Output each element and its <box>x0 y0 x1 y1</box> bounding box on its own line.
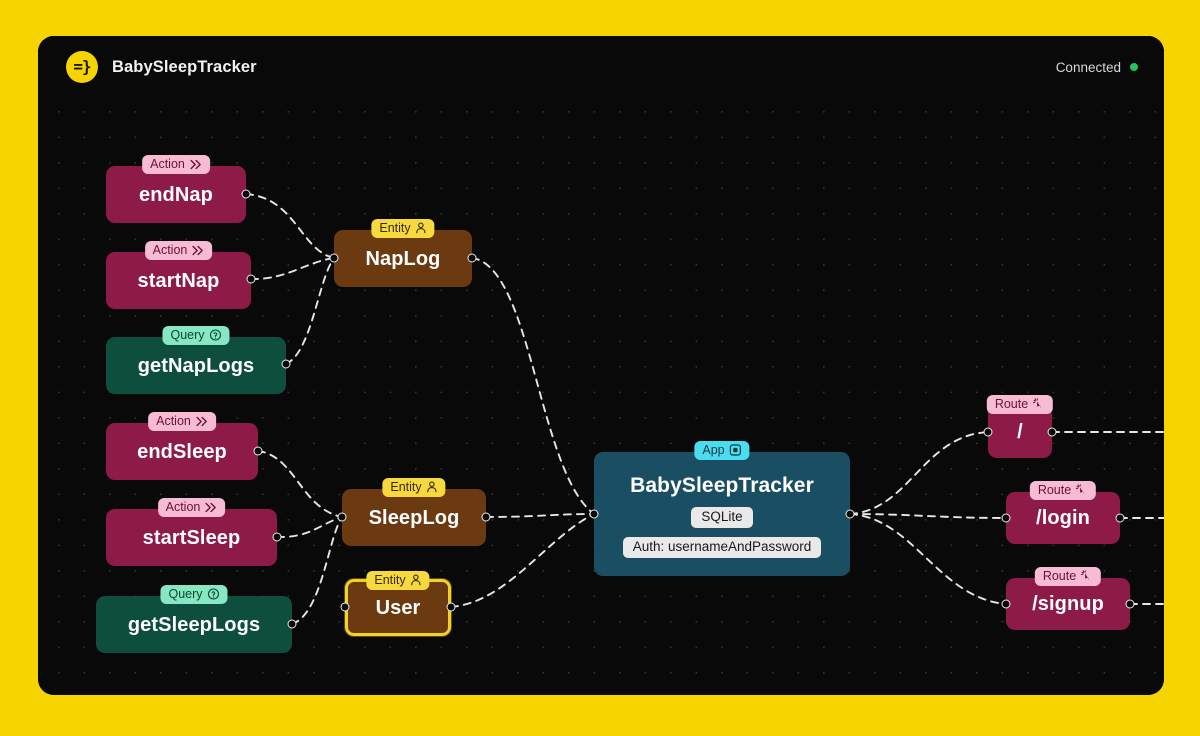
badge-label: Entity <box>390 480 421 494</box>
badge-label: Route <box>1043 569 1076 583</box>
badge-route: Route <box>987 395 1053 414</box>
node-label: /login <box>1022 507 1104 529</box>
badge-label: Route <box>1038 483 1071 497</box>
node-label: endSleep <box>123 441 241 463</box>
port-getnaplogs-out[interactable] <box>282 360 291 369</box>
app-frame: Action endNap Action startNap <box>0 0 1200 736</box>
badge-label: Action <box>153 243 188 257</box>
node-app-babysleeptracker[interactable]: App BabySleepTracker SQLite Auth: userna… <box>594 452 850 576</box>
editor-panel: Action endNap Action startNap <box>38 36 1164 695</box>
node-route-signup[interactable]: Route /signup <box>1006 578 1130 630</box>
node-naplog[interactable]: Entity NapLog <box>334 230 472 287</box>
edge-naplog-app <box>472 258 594 514</box>
port-getsleeplogs-out[interactable] <box>288 620 297 629</box>
node-getnaplogs[interactable]: Query getNapLogs <box>106 337 286 394</box>
graph-canvas[interactable]: Action endNap Action startNap <box>38 36 1164 695</box>
port-naplog-in[interactable] <box>330 254 339 263</box>
badge-entity: Entity <box>382 478 445 497</box>
badge-action: Action <box>148 412 216 431</box>
node-label: NapLog <box>351 248 454 270</box>
port-sleeplog-out[interactable] <box>482 513 491 522</box>
node-startsleep[interactable]: Action startSleep <box>106 509 277 566</box>
badge-label: Action <box>166 500 201 514</box>
port-route-login-in[interactable] <box>1002 514 1011 523</box>
connection-status-dot <box>1130 63 1138 71</box>
port-sleeplog-in[interactable] <box>338 513 347 522</box>
port-route-root-in[interactable] <box>984 428 993 437</box>
badge-entity: Entity <box>371 219 434 238</box>
app-title: BabySleepTracker <box>112 58 257 77</box>
badge-query: Query <box>160 585 227 604</box>
edge-app-route-root <box>850 432 988 514</box>
question-circle-icon <box>208 588 220 600</box>
node-sleeplog[interactable]: Entity SleepLog <box>342 489 486 546</box>
port-route-login-out[interactable] <box>1116 514 1125 523</box>
app-database-chip: SQLite <box>691 507 752 528</box>
app-node-content: BabySleepTracker SQLite Auth: usernameAn… <box>594 468 850 560</box>
user-icon <box>411 574 422 586</box>
node-label: startSleep <box>129 527 255 549</box>
port-naplog-out[interactable] <box>468 254 477 263</box>
port-app-in[interactable] <box>590 510 599 519</box>
port-user-out[interactable] <box>447 603 456 612</box>
node-endnap[interactable]: Action endNap <box>106 166 246 223</box>
badge-action: Action <box>142 155 210 174</box>
badge-label: App <box>702 443 724 457</box>
edge-getnaplogs-naplog <box>286 258 334 364</box>
brand-group: =} BabySleepTracker <box>66 51 257 83</box>
node-label: / <box>1003 421 1037 443</box>
chevrons-right-icon <box>190 159 202 170</box>
badge-route: Route <box>1035 567 1101 586</box>
badge-app: App <box>694 441 749 460</box>
port-route-signup-out[interactable] <box>1126 600 1135 609</box>
chevrons-right-icon <box>196 416 208 427</box>
top-bar: =} BabySleepTracker Connected <box>38 36 1164 98</box>
node-label: User <box>362 597 435 619</box>
click-cursor-icon <box>1081 570 1093 582</box>
app-auth-chip: Auth: usernameAndPassword <box>623 537 822 558</box>
click-cursor-icon <box>1076 484 1088 496</box>
port-startnap-out[interactable] <box>247 275 256 284</box>
node-startnap[interactable]: Action startNap <box>106 252 251 309</box>
port-route-signup-in[interactable] <box>1002 600 1011 609</box>
click-cursor-icon <box>1033 398 1045 410</box>
app-window-icon <box>730 444 742 456</box>
user-icon <box>427 481 438 493</box>
port-endsleep-out[interactable] <box>254 447 263 456</box>
node-label: getNapLogs <box>124 355 269 377</box>
user-icon <box>416 222 427 234</box>
badge-label: Query <box>170 328 204 342</box>
badge-label: Action <box>156 414 191 428</box>
badge-label: Route <box>995 397 1028 411</box>
connection-status: Connected <box>1056 60 1138 75</box>
port-startsleep-out[interactable] <box>273 533 282 542</box>
node-label: startNap <box>124 270 234 292</box>
chevrons-right-icon <box>192 245 204 256</box>
badge-action: Action <box>158 498 226 517</box>
app-node-title: BabySleepTracker <box>630 474 814 498</box>
node-route-login[interactable]: Route /login <box>1006 492 1120 544</box>
node-label: getSleepLogs <box>114 614 274 636</box>
edge-startnap-naplog <box>251 258 334 279</box>
badge-label: Action <box>150 157 185 171</box>
node-label: endNap <box>125 184 227 206</box>
chevrons-right-icon <box>205 502 217 513</box>
badge-route: Route <box>1030 481 1096 500</box>
edge-app-route-signup <box>850 514 1006 604</box>
connection-label: Connected <box>1056 60 1121 75</box>
badge-action: Action <box>145 241 213 260</box>
badge-entity: Entity <box>366 571 429 590</box>
port-endnap-out[interactable] <box>242 190 251 199</box>
badge-query: Query <box>162 326 229 345</box>
port-user-in[interactable] <box>341 603 350 612</box>
node-label: SleepLog <box>355 507 474 529</box>
edge-getsleeplogs-sleeplog <box>292 517 342 624</box>
badge-label: Entity <box>374 573 405 587</box>
port-route-root-out[interactable] <box>1048 428 1057 437</box>
wasp-logo-icon: =} <box>66 51 98 83</box>
edge-endsleep-sleeplog <box>258 451 342 517</box>
node-route-root[interactable]: Route / <box>988 406 1052 458</box>
node-label: /signup <box>1018 593 1118 615</box>
node-getsleeplogs[interactable]: Query getSleepLogs <box>96 596 292 653</box>
question-circle-icon <box>210 329 222 341</box>
node-user[interactable]: Entity User <box>345 579 451 636</box>
badge-label: Entity <box>379 221 410 235</box>
edge-app-route-login <box>850 514 1006 518</box>
edge-endnap-naplog <box>246 194 334 258</box>
badge-label: Query <box>168 587 202 601</box>
node-endsleep[interactable]: Action endSleep <box>106 423 258 480</box>
port-app-out[interactable] <box>846 510 855 519</box>
edge-startsleep-sleeplog <box>277 517 342 537</box>
edge-sleeplog-app <box>486 514 594 517</box>
